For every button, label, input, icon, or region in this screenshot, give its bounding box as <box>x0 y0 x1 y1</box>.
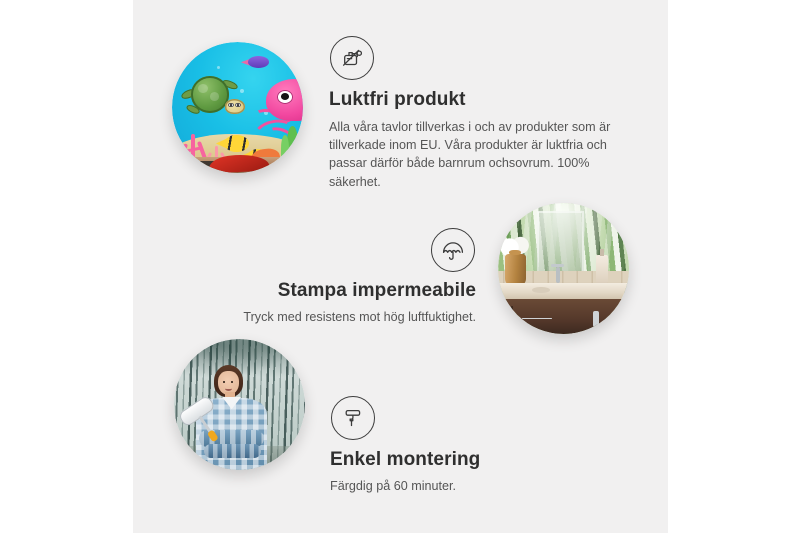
fish-purple <box>248 56 269 68</box>
painter-woman <box>191 365 272 470</box>
gold-vase <box>505 254 526 285</box>
photo-painter-forest <box>174 339 305 470</box>
feature-title: Luktfri produkt <box>329 89 634 112</box>
sea-turtle <box>182 73 242 123</box>
photo-sea-life <box>172 42 303 173</box>
cabinet-handle <box>593 311 599 327</box>
feature-title: Stampa impermeabile <box>196 280 476 303</box>
no-perfume-icon <box>330 36 374 80</box>
feature-description: Alla våra tavlor tillverkas i och av pro… <box>329 118 634 191</box>
feature-title: Enkel montering <box>330 449 630 472</box>
bubble-icon <box>217 66 220 69</box>
face <box>218 371 239 394</box>
feature-infographic: Luktfri produkt Alla våra tavlor tillver… <box>0 0 800 533</box>
seaweed <box>287 126 297 160</box>
soap-bottle <box>596 255 608 284</box>
cabinet-handle <box>522 318 551 319</box>
countertop <box>498 283 629 300</box>
paint-roller-icon <box>331 396 375 440</box>
feature-description: Färgdig på 60 minuter. <box>330 477 630 495</box>
umbrella-icon <box>431 228 475 272</box>
feature-description: Tryck med resistens mot hög luftfuktighe… <box>196 308 476 326</box>
faucet <box>556 267 560 283</box>
feature-waterproof: Stampa impermeabile Tryck med resistens … <box>196 228 476 326</box>
feature-odour-free: Luktfri produkt Alla våra tavlor tillver… <box>329 36 634 191</box>
wooden-vanity-cabinet <box>498 299 629 334</box>
feature-easy-mounting: Enkel montering Färgdig på 60 minuter. <box>330 396 630 495</box>
photo-bathroom-tropical <box>498 203 629 334</box>
